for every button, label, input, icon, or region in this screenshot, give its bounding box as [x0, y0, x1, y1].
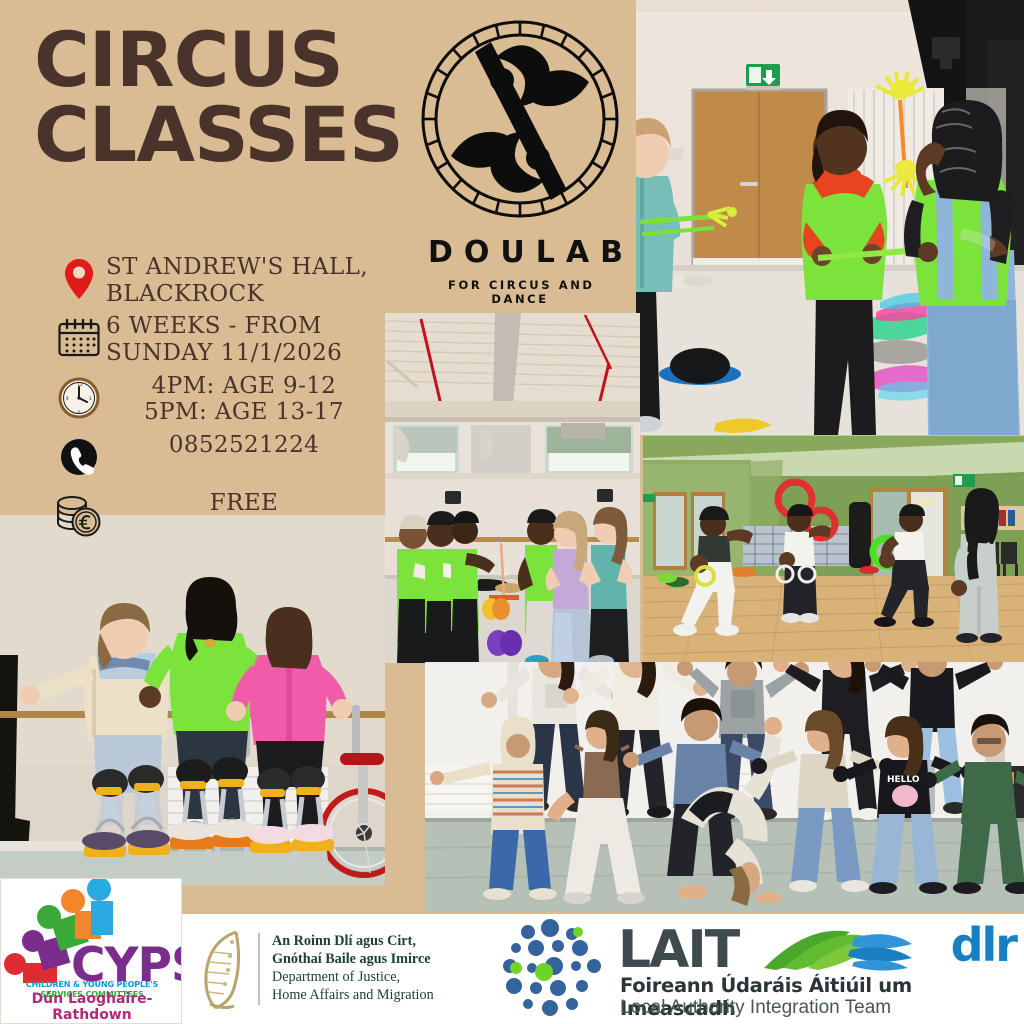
detail-phone-text: 0852521224 [106, 430, 382, 459]
photo-group-star-jumps: HELLO [425, 662, 1024, 912]
photo-flower-sticks [636, 0, 1024, 435]
photo-ring-juggling-art [643, 436, 1024, 666]
detail-location-line1: ST ANDREW'S HALL, [106, 254, 368, 280]
svg-text:HELLO: HELLO [887, 775, 920, 785]
lait-english-name: Local Authority Integration Team [620, 997, 891, 1019]
detail-price-line1: FREE [210, 490, 278, 516]
svg-text:12: 12 [78, 382, 84, 387]
detail-location-text: ST ANDREW'S HALL, BLACKROCK [106, 252, 368, 307]
detail-times-line2: 5PM: AGE 13-17 [106, 399, 382, 426]
lait-wordmark: LAIT [618, 920, 738, 980]
poster-root: HELLO CIRCUS [0, 0, 1024, 1024]
photo-diabolo-studio-art [385, 313, 640, 663]
doj-irish-line-2: Gnóthaí Baile agus Imirce [272, 951, 434, 969]
detail-phone-line1: 0852521224 [169, 432, 319, 458]
detail-row-times: 12369 4PM: AGE 9-12 5PM: AGE 13-17 [52, 371, 382, 426]
calendar-icon [52, 311, 106, 365]
detail-location-line2: BLACKROCK [106, 281, 368, 308]
department-of-justice-logo: An Roinn Dlí agus Cirt, Gnóthaí Baile ag… [182, 914, 488, 1024]
detail-dates-line1: 6 WEEKS - FROM [106, 313, 322, 339]
photo-diabolo-studio [385, 313, 640, 663]
photo-stilt-walkers [0, 515, 385, 885]
detail-row-price: FREE [52, 488, 382, 542]
detail-price-text: FREE [106, 488, 382, 517]
title-line-1: CIRCUS [34, 22, 434, 97]
photo-flower-sticks-art [636, 0, 1024, 435]
photo-stilt-walkers-art [0, 515, 385, 885]
doj-english-line-2: Home Affairs and Migration [272, 987, 434, 1005]
cypsc-logo: CYPSC CHILDREN & YOUNG PEOPLE'S SERVICES… [0, 878, 182, 1024]
detail-dates-text: 6 WEEKS - FROM SUNDAY 11/1/2026 [106, 311, 342, 366]
lait-dots-circle-icon [498, 914, 610, 1022]
location-pin-icon [52, 252, 106, 306]
dlr-wordmark: dlr [951, 918, 1016, 972]
detail-dates-line2: SUNDAY 11/1/2026 [106, 340, 342, 367]
clock-icon: 12369 [52, 371, 106, 425]
doj-text-block: An Roinn Dlí agus Cirt, Gnóthaí Baile ag… [258, 933, 434, 1005]
detail-row-dates: 6 WEEKS - FROM SUNDAY 11/1/2026 [52, 311, 382, 366]
detail-times-text: 4PM: AGE 9-12 5PM: AGE 13-17 [106, 371, 382, 426]
footer-logo-strip: An Roinn Dlí agus Cirt, Gnóthaí Baile ag… [182, 914, 1024, 1024]
cypsc-tagline-part-1: CHILDREN & YOUNG PEOPLE'S [26, 979, 158, 989]
doj-irish-line-1: An Roinn Dlí agus Cirt, [272, 933, 434, 951]
coins-euro-icon [52, 488, 106, 542]
event-details-list: ST ANDREW'S HALL, BLACKROCK [52, 252, 382, 546]
circus-wheel-acrobats-icon [417, 16, 623, 222]
doulab-tagline: FOR CIRCUS AND DANCE [417, 278, 623, 306]
doulab-wordmark: DOULAB [417, 235, 623, 270]
detail-times-line1: 4PM: AGE 9-12 [152, 373, 337, 399]
detail-row-phone: 0852521224 [52, 430, 382, 484]
phone-icon [52, 430, 106, 484]
doj-english-line-1: Department of Justice, [272, 969, 434, 987]
page-title: CIRCUS CLASSES [34, 22, 434, 172]
doulab-logo: DOULAB FOR CIRCUS AND DANCE [417, 16, 623, 306]
irish-harp-icon [196, 926, 248, 1012]
cypsc-region: Dún Laoghaire-Rathdown [1, 991, 183, 1023]
detail-row-location: ST ANDREW'S HALL, BLACKROCK [52, 252, 382, 307]
lait-logo: LAIT Foireann Údaráis Áitiúil um Imeasca… [492, 914, 1024, 1024]
photo-group-star-jumps-art: HELLO [425, 662, 1024, 912]
dlr-waves-icon [758, 922, 918, 974]
title-line-2: CLASSES [34, 97, 434, 172]
photo-ring-juggling [643, 436, 1024, 666]
